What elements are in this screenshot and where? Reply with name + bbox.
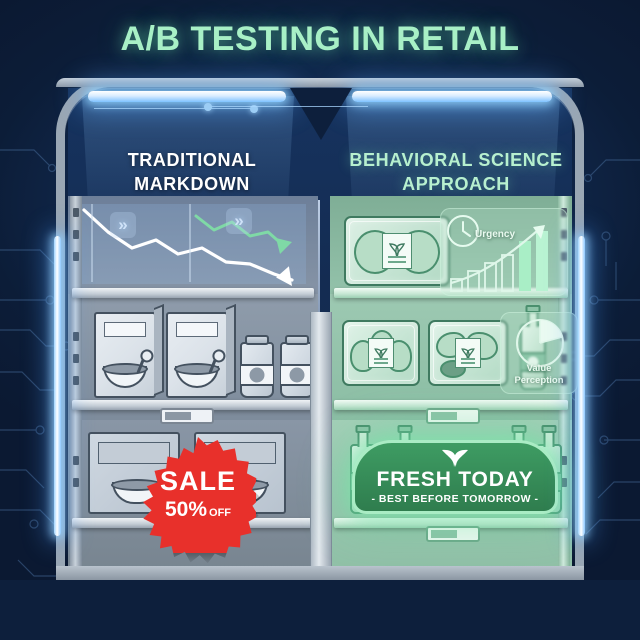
center-divider-post: [310, 312, 332, 580]
widget-urgency[interactable]: Urgency: [440, 208, 568, 296]
product-strawberry-tray: [342, 320, 420, 386]
spoon-icon: [136, 354, 146, 374]
connector-line-right: [208, 106, 368, 107]
chevron-right-icon-2: »: [226, 208, 252, 234]
bottle-neck: [358, 431, 369, 447]
widget-value-perception[interactable]: Value Perception: [500, 312, 578, 394]
sale-badge-title: SALE: [160, 468, 236, 495]
price-tag-right-mid: [426, 408, 480, 424]
urgency-bar-chart: [441, 209, 569, 297]
product-jar-2: [280, 342, 314, 398]
light-bar-right: [352, 91, 552, 102]
bottle-cap: [398, 425, 413, 433]
leaf-icon: [438, 448, 472, 468]
product-cereal-box-2: [166, 312, 228, 398]
cabinet-base: [56, 566, 584, 580]
product-label: [104, 322, 146, 337]
value-perception-label: Value Perception: [501, 363, 577, 386]
fresh-sign-line-2: - BEST BEFORE TOMORROW -: [372, 493, 539, 505]
bottle-neck: [544, 431, 555, 447]
product-lettuce-tray: [344, 216, 450, 286]
product-jar-1: [240, 342, 274, 398]
chevron-right-icon-1: »: [110, 212, 136, 238]
jar-label: [241, 364, 273, 386]
sale-badge-suffix: OFF: [209, 507, 231, 519]
sale-badge-percent: 50%: [165, 498, 207, 521]
cereal-bowl-graphic: [103, 366, 147, 388]
fresh-today-sign[interactable]: FRESH TODAY - BEST BEFORE TOMORROW -: [352, 440, 558, 514]
product-label: [98, 442, 170, 464]
sale-badge-amount: 50%OFF: [165, 498, 231, 522]
freshness-label: [368, 338, 394, 368]
connector-line-left: [94, 108, 254, 109]
jar-lid: [245, 335, 269, 345]
heading-traditional-markdown: TRADITIONAL MARKDOWN: [86, 148, 298, 197]
heading-line-1: BEHAVIORAL SCIENCE: [348, 148, 564, 172]
urgency-label: Urgency: [475, 229, 515, 240]
heading-behavioral-science: BEHAVIORAL SCIENCE APPROACH: [348, 148, 564, 197]
jar-label: [281, 364, 313, 386]
price-tag-right-bottom: [426, 526, 480, 542]
light-bar-left: [88, 91, 286, 102]
spoon-icon: [208, 354, 218, 374]
price-tag-left-mid: [160, 408, 214, 424]
product-greens-tray: [428, 320, 508, 386]
product-cereal-box-1: [94, 312, 156, 398]
left-shelf-plate-top: [72, 288, 314, 298]
product-label: [176, 322, 218, 337]
floor-area: [0, 580, 640, 640]
box-side-face: [226, 304, 236, 396]
value-perception-label-line-1: Value: [501, 363, 577, 374]
clock-icon: [448, 216, 478, 246]
bottle-cap: [512, 425, 527, 433]
heading-line-1: TRADITIONAL: [86, 148, 298, 172]
heading-line-2: MARKDOWN: [86, 172, 298, 196]
page-title: A/B TESTING IN RETAIL: [0, 20, 640, 59]
value-perception-label-line-2: Perception: [501, 375, 577, 386]
infographic-canvas: A/B TESTING IN RETAIL » »: [0, 0, 640, 640]
fresh-sign-line-1: FRESH TODAY: [377, 469, 534, 491]
box-side-face: [154, 304, 164, 396]
heading-line-2: APPROACH: [348, 172, 564, 196]
freshness-label: [455, 338, 481, 368]
bottle-cap: [542, 425, 557, 433]
neon-tube-left: [54, 236, 61, 536]
bottle-cap: [356, 425, 371, 433]
cereal-bowl-graphic: [175, 366, 219, 388]
freshness-label: [382, 233, 412, 269]
neon-tube-right: [578, 236, 585, 536]
jar-lid: [285, 335, 309, 345]
